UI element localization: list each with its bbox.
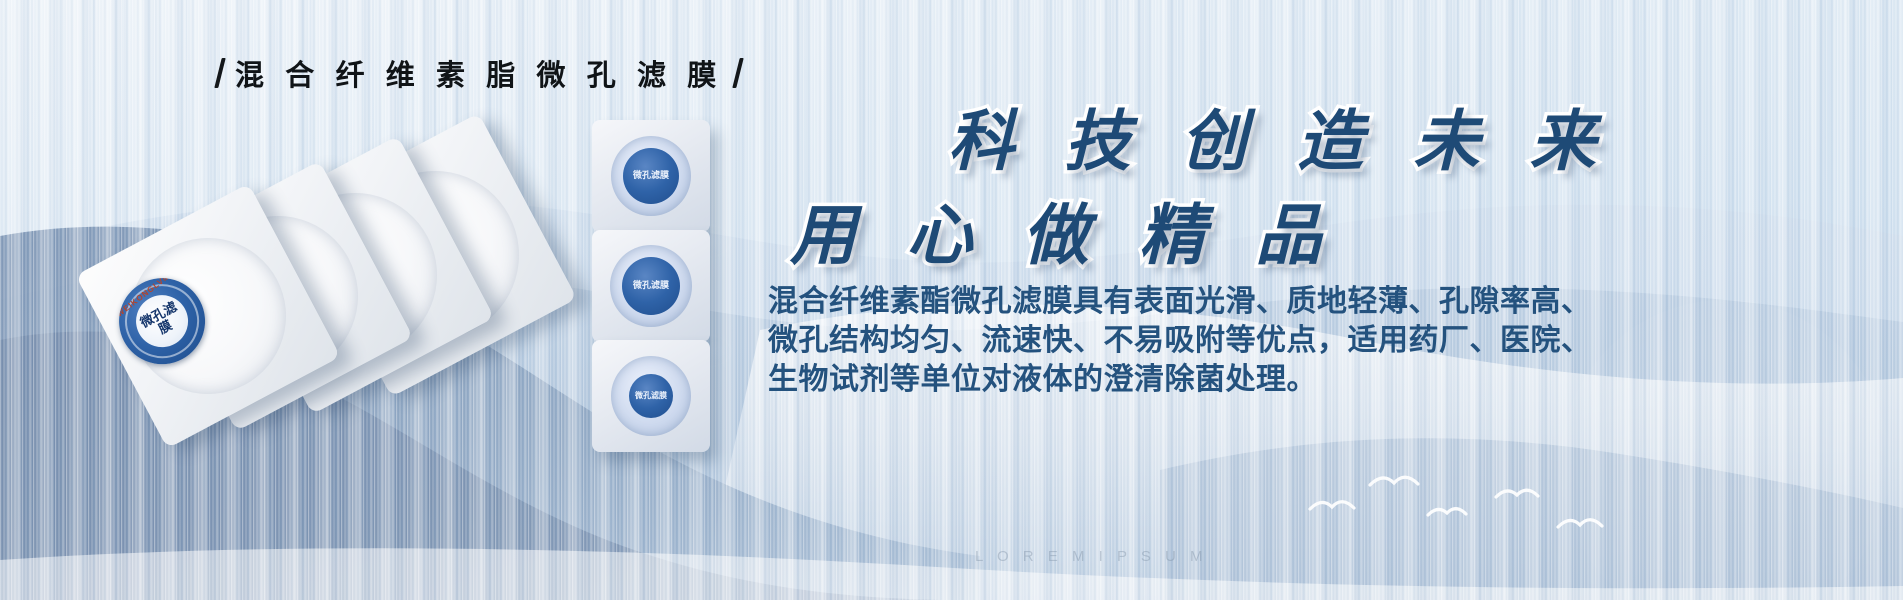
headline-line-2: 用 心 做 精 品: [790, 182, 1337, 278]
sachet-label-3: 微孔滤膜: [629, 374, 673, 418]
description-paragraph: 混合纤维素酯微孔滤膜具有表面光滑、质地轻薄、孔隙率高、 微孔结构均匀、流速快、不…: [768, 282, 1468, 399]
headline-line-1: 科 技 创 造 未 来: [948, 88, 1612, 184]
product-sachet-2: 微孔滤膜: [592, 230, 710, 342]
promo-banner: 微孔滤膜 WEIKONGLVMO 孔滤膜 WEIKONGLVMO 滤膜 WEIK…: [0, 0, 1903, 600]
description-line-3: 生物试剂等单位对液体的澄清除菌处理。: [768, 360, 1468, 399]
description-line-2: 微孔结构均匀、流速快、不易吸附等优点，适用药厂、医院、: [768, 321, 1468, 360]
sachet-label-2: 微孔滤膜: [622, 257, 680, 315]
product-sachet-1: 微孔滤膜: [592, 120, 710, 232]
sachet-label-text-3: 微孔滤膜: [635, 392, 667, 400]
product-sachet-3: 微孔滤膜: [592, 340, 710, 452]
product-kicker-title: 混 合 纤 维 素 脂 微 孔 滤 膜: [218, 52, 740, 94]
sachet-membrane-disc: 微孔滤膜: [610, 245, 692, 327]
sachet-membrane-disc: 微孔滤膜: [611, 356, 691, 436]
description-line-1: 混合纤维素酯微孔滤膜具有表面光滑、质地轻薄、孔隙率高、: [768, 282, 1468, 321]
sachet-label-text-1: 微孔滤膜: [633, 171, 669, 180]
sachet-label-1: 微孔滤膜: [623, 148, 679, 204]
sachet-label-text-2: 微孔滤膜: [633, 281, 669, 290]
birds-flock: [1300, 465, 1640, 555]
kicker-text: 混 合 纤 维 素 脂 微 孔 滤 膜: [235, 52, 723, 94]
sachet-membrane-disc: 微孔滤膜: [611, 136, 691, 216]
